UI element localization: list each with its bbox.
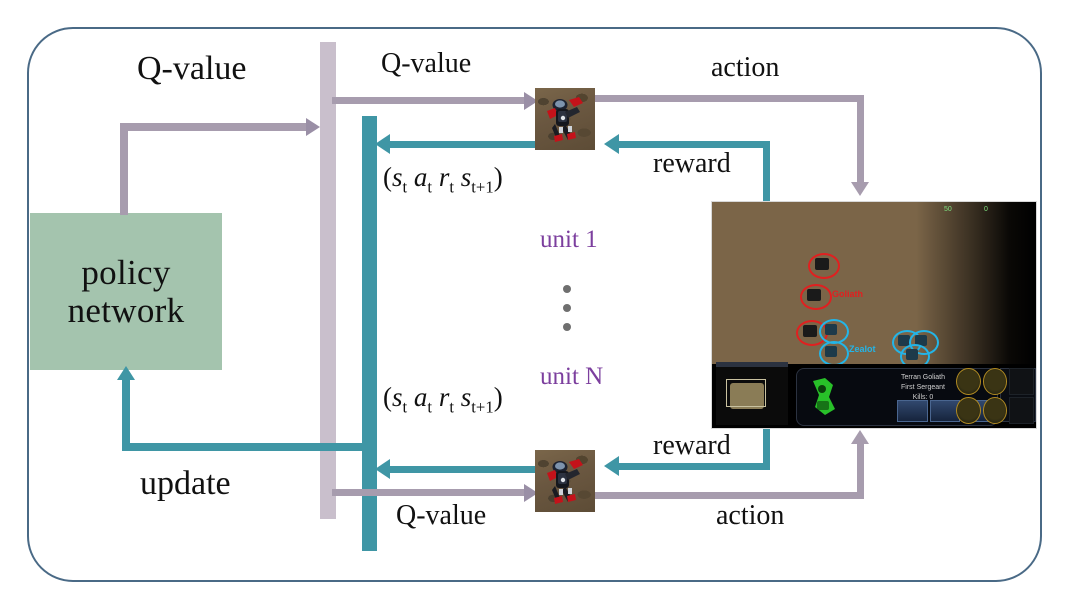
tuple-reward-sub: t xyxy=(449,177,454,196)
policy-network-box[interactable]: policy network xyxy=(30,213,222,370)
label-reward-top: reward xyxy=(653,148,731,180)
update-riser xyxy=(122,378,130,451)
label-update: update xyxy=(140,465,231,503)
qvalue-top-horizontal xyxy=(332,97,530,104)
diagram-canvas: policy network xyxy=(0,0,1080,609)
tuple-state-sub: t xyxy=(403,397,408,416)
tuple-open-paren: ( xyxy=(383,382,392,412)
action-top-descender xyxy=(857,95,864,185)
experience-bottom-arrowhead xyxy=(375,459,390,479)
gas-count: 0 xyxy=(984,206,988,213)
reward-top-riser xyxy=(763,141,770,203)
tuple-action: a xyxy=(414,162,428,192)
action-top-arrowhead xyxy=(851,182,869,196)
starcraft-game-screenshot[interactable]: 50 0 Goliath Zealot xyxy=(712,202,1036,428)
reward-top-horizontal xyxy=(618,141,770,148)
game-label-zealot: Zealot xyxy=(849,344,876,354)
label-qvalue-bottom: Q-value xyxy=(396,500,486,532)
ellipsis-dot xyxy=(563,304,571,312)
tuple-reward: r xyxy=(439,382,450,412)
policy-network-line1: policy xyxy=(81,254,170,292)
tuple-next-state-sub: t+1 xyxy=(471,177,493,196)
experience-top-arrowhead xyxy=(375,134,390,154)
tuple-close-paren: ) xyxy=(494,162,503,192)
selection-circle-red xyxy=(800,284,832,310)
tuple-state: s xyxy=(392,382,403,412)
qvalue-left-arrowhead xyxy=(306,118,320,136)
unit-label-n: unit N xyxy=(540,363,603,391)
tuple-action: a xyxy=(414,382,428,412)
qvalue-left-horizontal xyxy=(120,123,308,131)
command-button-stop[interactable] xyxy=(983,368,1008,395)
command-button-empty[interactable] xyxy=(1009,397,1034,424)
tuple-next-state-sub: t+1 xyxy=(471,397,493,416)
goliath-mech-icon xyxy=(543,94,589,144)
action-bottom-horizontal xyxy=(594,492,864,499)
update-horizontal xyxy=(122,443,372,451)
tuple-next-state: s xyxy=(461,162,472,192)
action-top-horizontal xyxy=(594,95,864,102)
tuple-open-paren: ( xyxy=(383,162,392,192)
game-command-buttons[interactable] xyxy=(956,368,1034,424)
action-bottom-arrowhead xyxy=(851,430,869,444)
game-minimap[interactable] xyxy=(716,362,788,425)
wireframe-slot xyxy=(897,400,928,422)
unit-label-1: unit 1 xyxy=(540,226,598,254)
tuple-next-state: s xyxy=(461,382,472,412)
selection-circle-red xyxy=(808,253,840,279)
unit-portrait-icon xyxy=(803,375,847,419)
label-action-top: action xyxy=(711,52,779,84)
experience-bottom-horizontal xyxy=(389,466,537,473)
minimap-viewport-box xyxy=(726,379,766,407)
command-button-patrol[interactable] xyxy=(983,397,1008,424)
experience-top-horizontal xyxy=(389,141,537,148)
minerals-count: 50 xyxy=(944,206,952,213)
tuple-reward: r xyxy=(439,162,450,192)
tuple-state: s xyxy=(392,162,403,192)
command-button-move[interactable] xyxy=(956,368,981,395)
label-qvalue-left: Q-value xyxy=(137,50,247,88)
qvalue-left-riser xyxy=(120,123,128,215)
unit-1-sprite-tile[interactable] xyxy=(535,88,595,150)
label-qvalue-top: Q-value xyxy=(381,48,471,80)
qvalue-bottom-horizontal xyxy=(332,489,530,496)
label-reward-bottom: reward xyxy=(653,430,731,462)
vertical-ellipsis xyxy=(563,285,571,331)
experience-tuple-unit-n: (st at rt st+1) xyxy=(383,382,503,417)
ellipsis-dot xyxy=(563,285,571,293)
goliath-mech-icon xyxy=(543,456,589,506)
reward-bottom-arrowhead xyxy=(604,456,619,476)
update-arrowhead xyxy=(117,366,135,380)
label-action-bottom: action xyxy=(716,500,784,532)
experience-tuple-unit-1: (st at rt st+1) xyxy=(383,162,503,197)
reward-bottom-horizontal xyxy=(618,463,770,470)
reward-top-arrowhead xyxy=(604,134,619,154)
action-bottom-riser xyxy=(857,442,864,499)
game-label-goliath: Goliath xyxy=(832,289,863,299)
game-hud: Terran Goliath First Sergeant Kills: 0 xyxy=(712,364,1036,428)
ellipsis-dot xyxy=(563,323,571,331)
replay-buffer-bar xyxy=(362,116,377,551)
tuple-action-sub: t xyxy=(427,177,432,196)
tuple-state-sub: t xyxy=(403,177,408,196)
command-button-attack[interactable] xyxy=(956,397,981,424)
tuple-close-paren: ) xyxy=(494,382,503,412)
unit-n-sprite-tile[interactable] xyxy=(535,450,595,512)
tuple-reward-sub: t xyxy=(449,397,454,416)
policy-network-line2: network xyxy=(68,292,185,330)
command-button-empty[interactable] xyxy=(1009,368,1034,395)
selection-circle-blue xyxy=(819,341,849,366)
tuple-action-sub: t xyxy=(427,397,432,416)
